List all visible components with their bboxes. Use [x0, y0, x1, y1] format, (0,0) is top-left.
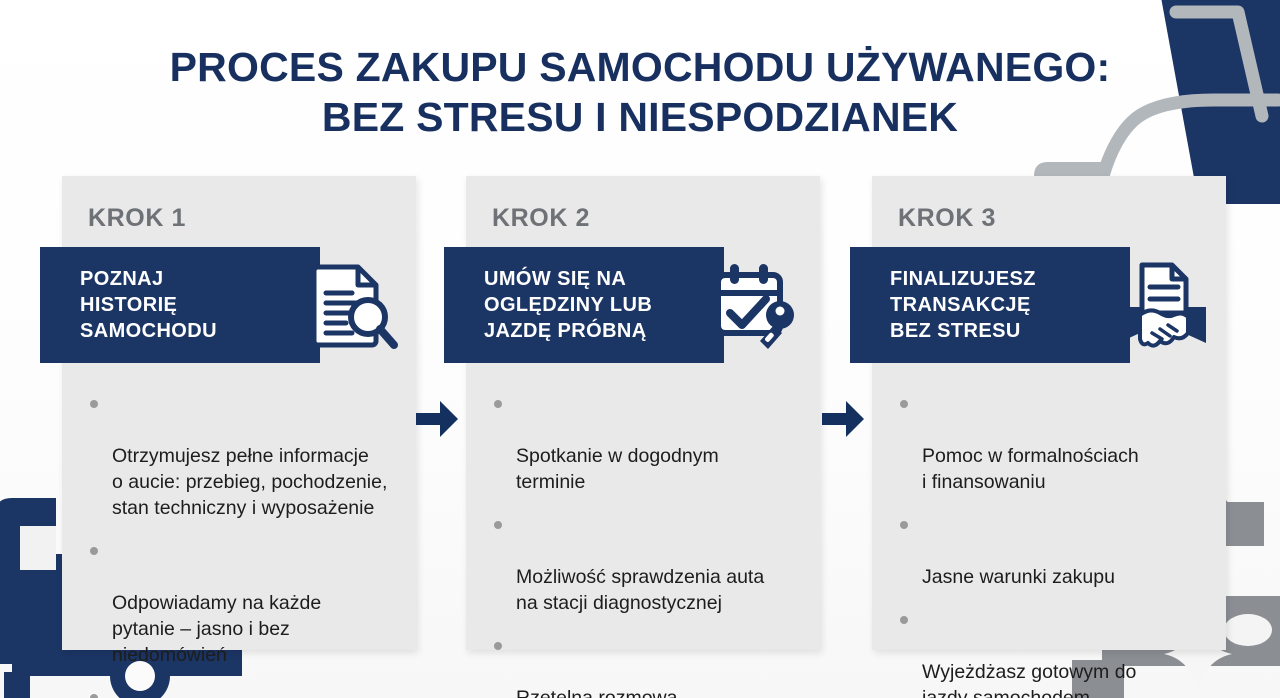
bullet-dot-icon [90, 694, 98, 698]
step-bullets-2: Spotkanie w dogodnym terminie Możliwość … [466, 391, 820, 698]
infographic-canvas: PROCES ZAKUPU SAMOCHODU UŻYWANEGO: BEZ S… [0, 0, 1280, 698]
steps-container: KROK 1 POZNAJ HISTORIĘ SAMOCHODU [0, 176, 1280, 656]
bullet-text: Możliwość sprawdzenia auta na stacji dia… [516, 566, 764, 614]
document-magnifier-icon [306, 259, 398, 351]
bullet-text: Wyjeżdżasz gotowym do jazdy samochodem [922, 661, 1136, 698]
step-banner-2: UMÓW SIĘ NA OGLĘDZINY LUB JAZDĘ PRÓBNĄ [466, 247, 820, 363]
list-item: Chcesz? Prześlemy dodatkowe zdjęcia lub … [88, 685, 392, 698]
list-item: Możliwość sprawdzenia auta na stacji dia… [492, 512, 796, 616]
bullet-dot-icon [900, 616, 908, 624]
step-banner-bar-3: FINALIZUJESZ TRANSAKCJĘ BEZ STRESU [850, 247, 1130, 363]
bullet-dot-icon [900, 521, 908, 529]
handshake-document-icon [1116, 259, 1208, 351]
title-line-1: PROCES ZAKUPU SAMOCHODU UŻYWANEGO: [0, 42, 1280, 92]
step-card-3: KROK 3 FINALIZUJESZ TRANSAKCJĘ BEZ STRES… [872, 176, 1226, 650]
list-item: Pomoc w formalnościach i finansowaniu [898, 391, 1202, 495]
step-label-3: KROK 3 [872, 176, 1226, 233]
step-bullets-1: Otrzymujesz pełne informacje o aucie: pr… [62, 391, 416, 698]
bullet-text: Jasne warunki zakupu [922, 566, 1115, 588]
step-bullets-3: Pomoc w formalnościach i finansowaniu Ja… [872, 391, 1226, 698]
step-card-2: KROK 2 UMÓW SIĘ NA OGLĘDZINY LUB JAZDĘ P… [466, 176, 820, 650]
bullet-dot-icon [494, 642, 502, 650]
bullet-dot-icon [494, 400, 502, 408]
list-item: Spotkanie w dogodnym terminie [492, 391, 796, 495]
bullet-dot-icon [494, 521, 502, 529]
step-banner-bar-2: UMÓW SIĘ NA OGLĘDZINY LUB JAZDĘ PRÓBNĄ [444, 247, 724, 363]
bullet-text: Rzetelna rozmowa w przyjaznej atmosferze [516, 687, 725, 698]
list-item: Otrzymujesz pełne informacje o aucie: pr… [88, 391, 392, 521]
step-banner-3: FINALIZUJESZ TRANSAKCJĘ BEZ STRESU [872, 247, 1226, 363]
arrow-right-icon [820, 396, 866, 442]
bullet-dot-icon [90, 547, 98, 555]
step-headline-3: FINALIZUJESZ TRANSAKCJĘ BEZ STRESU [850, 266, 1036, 344]
page-title: PROCES ZAKUPU SAMOCHODU UŻYWANEGO: BEZ S… [0, 42, 1280, 142]
list-item: Jasne warunki zakupu [898, 512, 1202, 590]
bullet-dot-icon [900, 400, 908, 408]
step-card-1: KROK 1 POZNAJ HISTORIĘ SAMOCHODU [62, 176, 416, 650]
list-item: Rzetelna rozmowa w przyjaznej atmosferze [492, 633, 796, 698]
step-banner-bar-1: POZNAJ HISTORIĘ SAMOCHODU [40, 247, 320, 363]
bullet-text: Odpowiadamy na każde pytanie – jasno i b… [112, 592, 321, 666]
step-headline-1: POZNAJ HISTORIĘ SAMOCHODU [40, 266, 217, 344]
step-headline-2: UMÓW SIĘ NA OGLĘDZINY LUB JAZDĘ PRÓBNĄ [444, 266, 652, 344]
list-item: Odpowiadamy na każde pytanie – jasno i b… [88, 538, 392, 668]
bullet-dot-icon [90, 400, 98, 408]
bullet-text: Pomoc w formalnościach i finansowaniu [922, 445, 1139, 493]
list-item: Wyjeżdżasz gotowym do jazdy samochodem [898, 607, 1202, 698]
arrow-right-icon [414, 396, 460, 442]
step-banner-1: POZNAJ HISTORIĘ SAMOCHODU [62, 247, 416, 363]
step-label-1: KROK 1 [62, 176, 416, 233]
title-line-2: BEZ STRESU I NIESPODZIANEK [0, 92, 1280, 142]
bullet-text: Otrzymujesz pełne informacje o aucie: pr… [112, 445, 387, 519]
step-label-2: KROK 2 [466, 176, 820, 233]
bullet-text: Spotkanie w dogodnym terminie [516, 445, 719, 493]
calendar-check-key-icon [710, 259, 802, 351]
